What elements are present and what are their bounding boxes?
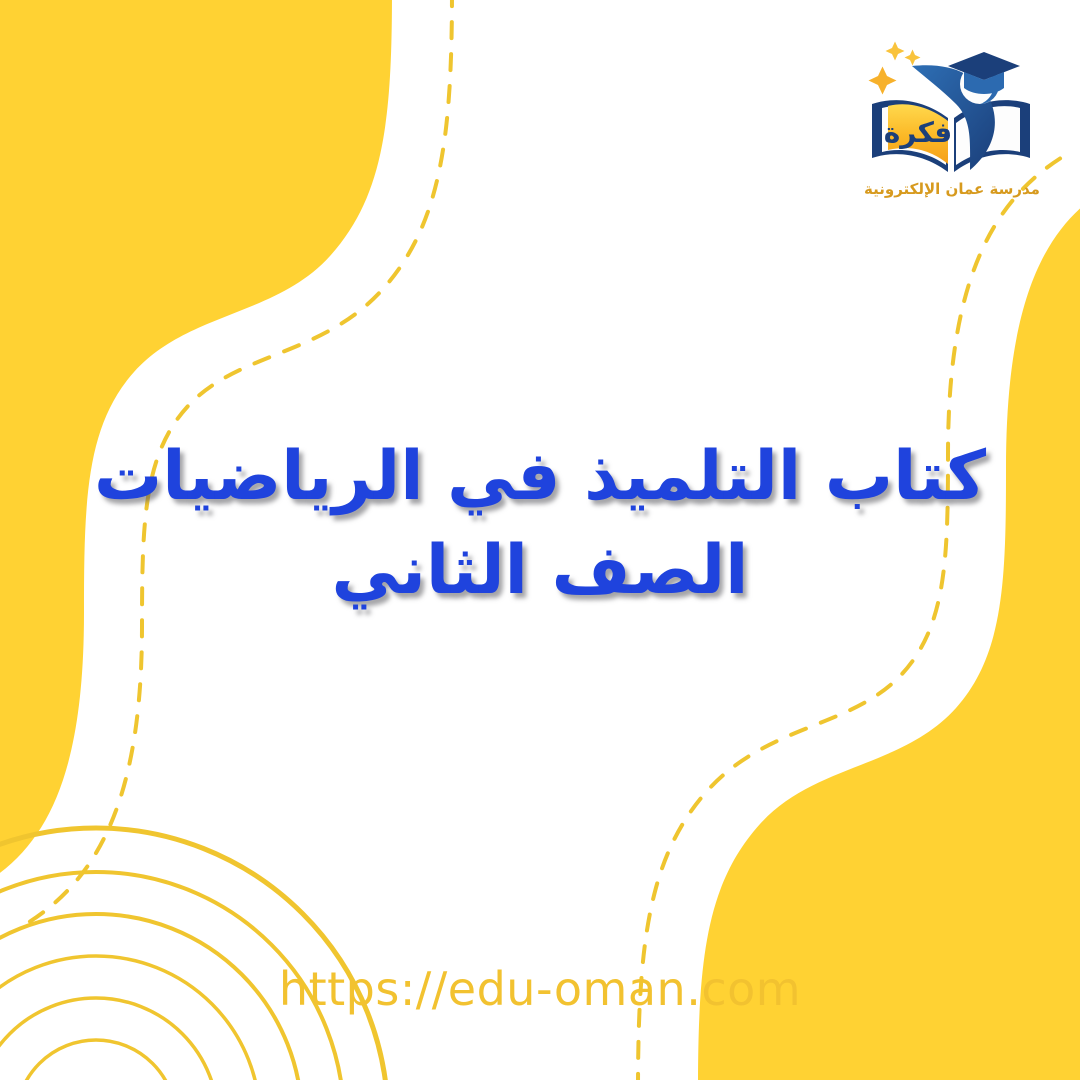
bottom-right-blob-shape bbox=[698, 200, 1080, 1080]
logo-graphic: فكرة مدرسة عمان الإلكترونية bbox=[852, 22, 1052, 202]
logo-book-word: فكرة bbox=[884, 116, 953, 149]
site-url[interactable]: https://edu-oman.com bbox=[0, 962, 1080, 1016]
bottom-right-dashed-contour bbox=[638, 156, 1064, 1080]
page-title: كتاب التلميذ في الرياضيات الصف الثاني bbox=[0, 430, 1080, 618]
title-line-1: كتاب التلميذ في الرياضيات bbox=[70, 430, 1010, 524]
sparkle-icon bbox=[869, 42, 921, 95]
logo-caption: مدرسة عمان الإلكترونية bbox=[864, 180, 1040, 198]
bottom-left-ring-arcs bbox=[0, 828, 388, 1080]
poster-canvas: فكرة مدرسة عمان الإلكترونية كتاب التلميذ… bbox=[0, 0, 1080, 1080]
brand-logo: فكرة مدرسة عمان الإلكترونية bbox=[852, 22, 1052, 202]
title-line-2: الصف الثاني bbox=[70, 524, 1010, 618]
